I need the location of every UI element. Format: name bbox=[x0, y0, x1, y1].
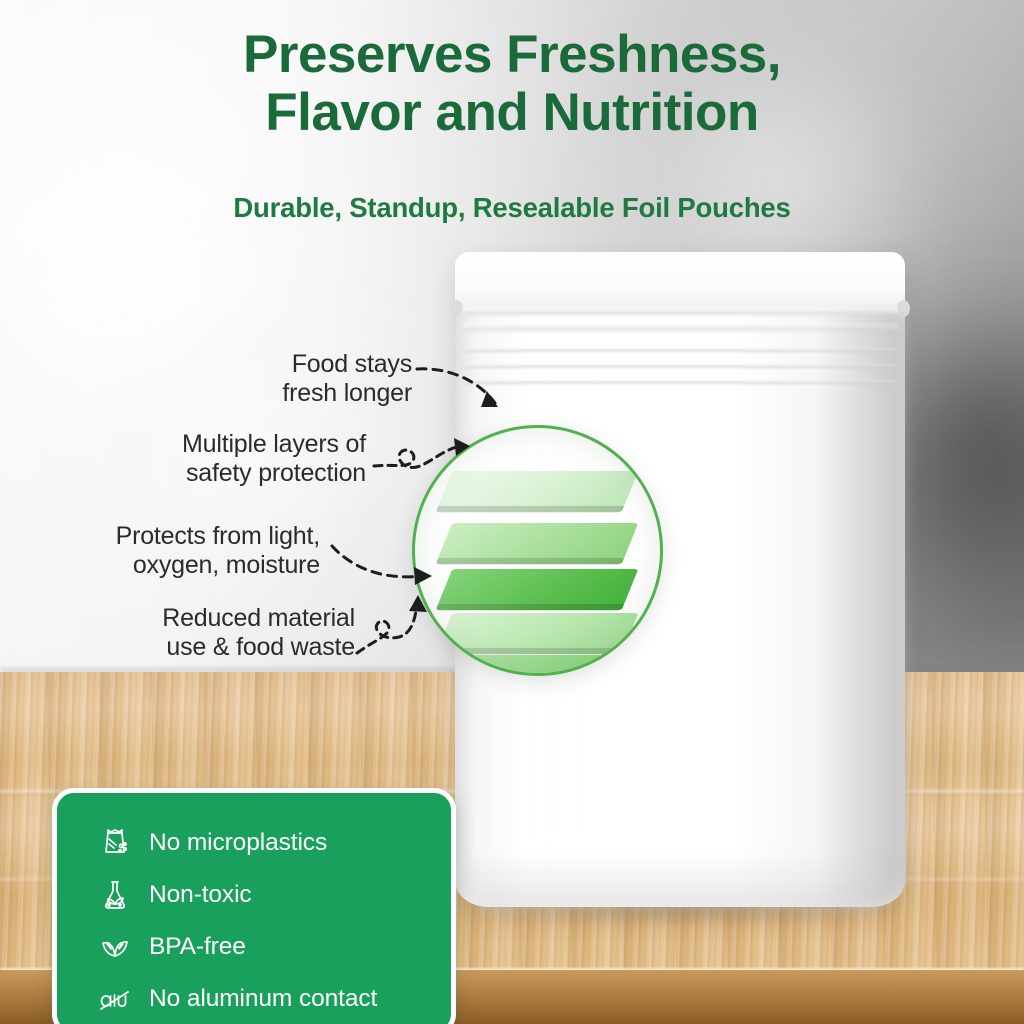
benefit-row-no-aluminum: No aluminum contact bbox=[95, 975, 451, 1023]
infographic-scene: Preserves Freshness, Flavor and Nutritio… bbox=[0, 0, 1024, 1024]
benefit-label: BPA-free bbox=[149, 935, 246, 960]
no-microplastics-icon bbox=[95, 823, 135, 863]
callout-protects-from: Protects from light, oxygen, moisture bbox=[20, 522, 320, 580]
pouch-bottom-shading bbox=[465, 852, 895, 912]
pouch-top-seal bbox=[455, 252, 905, 314]
film-layer-2 bbox=[437, 523, 638, 559]
arrow-to-layers-middle-icon bbox=[330, 540, 448, 590]
pouch-right-shading bbox=[819, 312, 905, 902]
benefit-row-no-microplastics: No microplastics bbox=[95, 819, 451, 867]
benefit-row-non-toxic: Non-toxic bbox=[95, 871, 451, 919]
benefit-label: No aluminum contact bbox=[149, 987, 377, 1012]
benefit-label: Non-toxic bbox=[149, 883, 252, 908]
callout-reduced-material: Reduced material use & food waste bbox=[50, 604, 355, 662]
benefit-label: No microplastics bbox=[149, 831, 327, 856]
flask-non-toxic-icon bbox=[95, 875, 135, 915]
arrow-to-pouch-top-icon bbox=[415, 355, 525, 425]
no-aluminum-icon bbox=[95, 979, 135, 1019]
subheadline: Durable, Standup, Resealable Foil Pouche… bbox=[0, 192, 1024, 224]
headline-line-2: Flavor and Nutrition bbox=[0, 84, 1024, 142]
arrow-to-layers-lower-icon bbox=[355, 595, 465, 663]
arrow-to-layers-upper-icon bbox=[372, 428, 482, 490]
headline-line-1: Preserves Freshness, bbox=[0, 26, 1024, 84]
benefit-row-bpa-free: BPA-free bbox=[95, 923, 451, 971]
callout-multiple-layers: Multiple layers of safety protection bbox=[60, 430, 366, 488]
benefits-card: No microplastics Non-toxic bbox=[52, 788, 456, 1024]
callout-food-stays-fresh: Food stays fresh longer bbox=[150, 350, 412, 408]
film-layer-4 bbox=[437, 613, 638, 649]
leaves-bpa-free-icon bbox=[95, 927, 135, 967]
film-layer-5 bbox=[437, 655, 638, 676]
page-title: Preserves Freshness, Flavor and Nutritio… bbox=[0, 26, 1024, 143]
film-layer-3 bbox=[437, 569, 638, 605]
